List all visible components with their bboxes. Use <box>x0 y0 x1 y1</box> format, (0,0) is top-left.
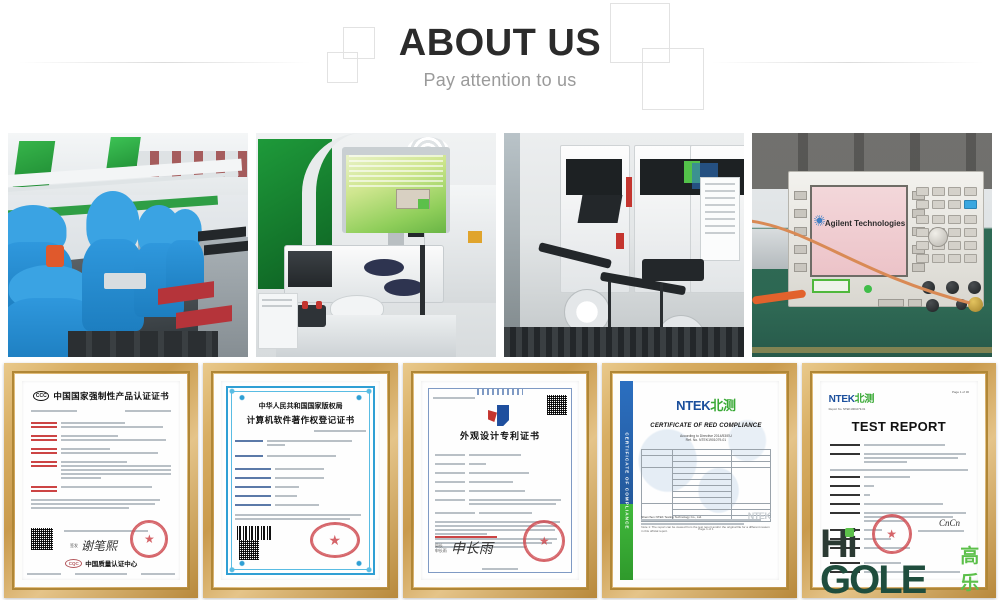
certificate-ccc-product[interactable]: CCC 中国国家强制性产品认证证书 <box>4 363 198 598</box>
certificate-design-patent[interactable]: 外观设计专利证书 <box>403 363 597 598</box>
photo-pick-and-place-machines[interactable] <box>504 133 744 357</box>
page-header: ABOUT US Pay attention to us <box>0 0 1000 125</box>
rf-cable <box>752 211 992 307</box>
compliance-sidebar: CERTIFICATE OF COMPLIANCE <box>620 381 633 580</box>
ccc-title: 中国国家强制性产品认证证书 <box>53 390 169 402</box>
ntek-logo-report: NTEK北测 <box>829 390 874 405</box>
ccc-signature: 谢笔熙 <box>81 537 117 554</box>
ntek-brand-cn: 北测 <box>710 398 735 413</box>
compliance-page: Page 1 of 1 <box>698 527 713 531</box>
patent-signature: 申长雨 <box>451 538 493 558</box>
logo-gole-text: GOLE <box>820 558 925 600</box>
certificate-red-compliance[interactable]: CERTIFICATE OF COMPLIANCE NTEK北测 CERTIFI… <box>602 363 796 598</box>
compliance-title: CERTIFICATE OF RED COMPLIANCE <box>641 423 770 429</box>
patent-title: 外观设计专利证书 <box>421 429 579 442</box>
patent-red-seal: ★ <box>523 520 565 562</box>
patent-qr-code <box>547 395 567 415</box>
copyright-title-line2: 计算机软件著作权登记证书 <box>235 414 365 426</box>
photo-smt-inspection-machine[interactable] <box>256 133 496 357</box>
ccc-red-seal: ★ <box>130 520 168 558</box>
ccc-issuer: 中国质量认证中心 <box>85 558 137 568</box>
cqc-mark-icon: CQC <box>65 559 82 568</box>
certificate-software-copyright[interactable]: 中华人民共和国国家版权局 计算机软件著作权登记证书 <box>203 363 397 598</box>
report-page: Page 1 of 30 <box>952 390 969 394</box>
copyright-qr-code <box>239 540 259 560</box>
copyright-red-seal: ★ <box>310 522 360 558</box>
photo-assembly-line[interactable] <box>8 133 248 357</box>
copyright-barcode <box>237 526 271 540</box>
photo-agilent-test-equipment[interactable]: Agilent Technologies <box>752 133 992 357</box>
compliance-refno: Ref. No. NTEK1901079-01 <box>641 438 770 442</box>
logo-green-dot-icon <box>845 528 854 537</box>
logo-cn-text: 高乐 <box>960 541 998 595</box>
test-report-title: TEST REPORT <box>820 419 978 434</box>
ccc-qr-code <box>31 528 53 550</box>
ntek-brand: NTEK <box>676 398 710 413</box>
compliance-sidebar-label: CERTIFICATE OF COMPLIANCE <box>624 432 629 529</box>
ntek-brand-cn-report: 北测 <box>855 394 874 405</box>
header-text-block: ABOUT US Pay attention to us <box>0 0 1000 91</box>
copyright-title-line1: 中华人民共和国国家版权局 <box>235 401 365 411</box>
report-no: NTEK1901079-01 <box>843 407 865 411</box>
ntek-watermark: NTEK <box>748 511 771 521</box>
report-no-label: Report No. <box>829 407 843 411</box>
ntek-brand-report: NTEK <box>829 394 855 405</box>
ccc-mark-icon: CCC <box>33 391 49 401</box>
page-subtitle: Pay attention to us <box>0 70 1000 91</box>
page-title: ABOUT US <box>0 24 1000 64</box>
photo-gallery: Agilent Technologies <box>8 133 992 357</box>
higole-logo: HiGOLE 高乐 <box>820 532 998 598</box>
ntek-logo: NTEK北测 <box>641 395 770 414</box>
about-us-page: ABOUT US Pay attention to us <box>0 0 1000 600</box>
